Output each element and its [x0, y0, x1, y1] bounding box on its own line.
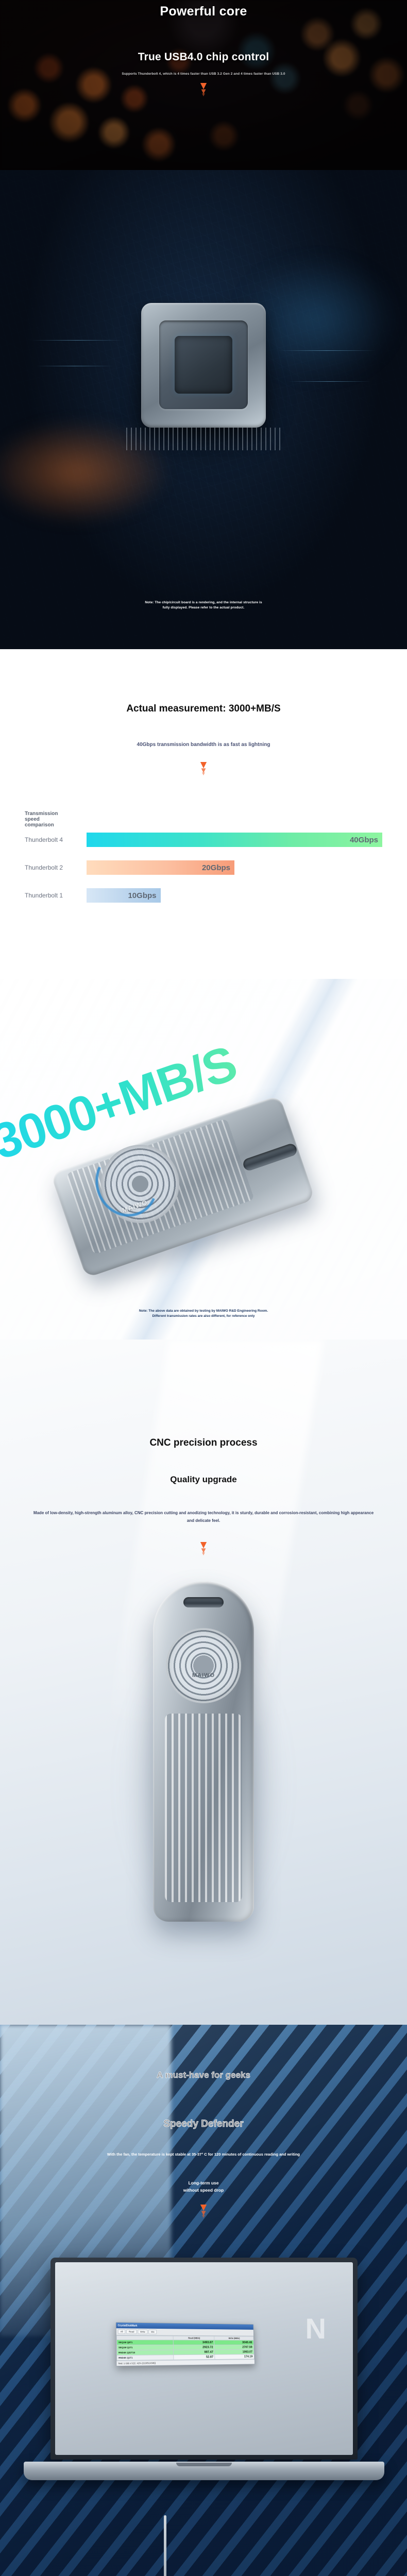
geek-subheading: Speedy Defender: [0, 2119, 407, 2130]
bar-fill: 20Gbps: [87, 860, 234, 875]
product-ribs: [165, 1714, 242, 1902]
benchmark-window[interactable]: CrystalDiskMark All Read Write Mix Read …: [116, 2322, 255, 2366]
measurement-heading: Actual measurement: 3000+MB/S: [0, 703, 407, 715]
chart-bar-row: Thunderbolt 2 20Gbps: [25, 860, 382, 875]
tab-mix[interactable]: Mix: [148, 2330, 157, 2334]
laptop: N CrystalDiskMark All Read Write Mix: [24, 2258, 384, 2515]
board-note-line1: Note: The chip/circuit board is a render…: [145, 601, 262, 604]
row-write: 3040.46: [214, 2340, 253, 2345]
cnc-description: Made of low-density, high-strength alumi…: [32, 1510, 375, 1525]
row-label: RND4K Q1T1: [117, 2355, 174, 2361]
screen-watermark: N: [306, 2312, 328, 2345]
usb-cable: [164, 2515, 166, 2576]
tab-all[interactable]: All: [118, 2329, 126, 2334]
board-note-line2: fully displayed. Please refer to the act…: [163, 606, 245, 609]
benchmark-tabs[interactable]: All Read Write Mix: [116, 2328, 253, 2336]
chip-core: [175, 336, 232, 394]
product-speed-section: 3000+MB/S MAIWO Note: The above data are…: [0, 979, 407, 1340]
chip-pins: [126, 428, 281, 450]
bar-track: 10Gbps: [87, 888, 382, 903]
row-label: SEQ1M Q1T1: [116, 2345, 173, 2350]
longterm-line1: Long-term use: [188, 2180, 218, 2185]
pcb-trace: [278, 350, 376, 351]
hero-title: Powerful core: [0, 4, 407, 19]
chevron-down-icon: ▼▼▼: [197, 761, 210, 776]
circuit-board-section: Note: The chip/circuit board is a render…: [0, 170, 407, 649]
bar-label: Thunderbolt 2: [25, 864, 87, 871]
geek-section: A must-have for geeks Speedy Defender Wi…: [0, 2025, 407, 2576]
cnc-subheading: Quality upgrade: [0, 1475, 407, 1485]
geek-heading: A must-have for geeks: [0, 2070, 407, 2080]
chart-bar-row: Thunderbolt 1 10Gbps: [25, 888, 382, 903]
laptop-screen: N CrystalDiskMark All Read Write Mix: [55, 2262, 353, 2455]
bar-track: 40Gbps: [87, 833, 382, 847]
benchmark-footer: Test: 1 GiB x 5 [C: 42% (213/511GiB)]: [116, 2359, 255, 2366]
laptop-screen-frame: N CrystalDiskMark All Read Write Mix: [50, 2258, 358, 2460]
row-read: 2923.72: [174, 2345, 215, 2350]
bar-value: 20Gbps: [202, 863, 230, 872]
hero-caption: Supports Thunderbolt 4, which is 4 times…: [0, 72, 407, 76]
product-top-slot: [183, 1597, 224, 1607]
chart-title: Transmission speed comparison: [25, 811, 58, 828]
cnc-section: CNC precision process Quality upgrade Ma…: [0, 1340, 407, 2025]
cnc-brand-logo: MAIWO: [192, 1672, 215, 1679]
benchmark-table: Read (MB/s) Write (MB/s) SEQ1M Q8T1 3493…: [116, 2335, 255, 2361]
hero-section: Powerful core True USB4.0 chip control S…: [0, 0, 407, 170]
geek-temperature-text: With the fan, the temperature is kept st…: [26, 2151, 381, 2158]
bar-value: 40Gbps: [350, 836, 378, 844]
pcb-trace: [31, 340, 124, 341]
longterm-line2: without speed drop: [183, 2188, 224, 2193]
tab-write[interactable]: Write: [138, 2330, 147, 2334]
product-note-line1: Note: The above data are obtained by tes…: [139, 1309, 268, 1313]
row-read: 3493.67: [173, 2340, 214, 2345]
row-read: 52.87: [174, 2354, 215, 2360]
laptop-notch: [176, 2463, 232, 2466]
board-note: Note: The chip/circuit board is a render…: [0, 600, 407, 611]
chevron-down-icon: ▼▼▼: [197, 2204, 210, 2219]
product-note-line2: Different transmission rates are also di…: [152, 1314, 255, 1318]
bar-fill: 40Gbps: [87, 833, 382, 847]
cnc-heading: CNC precision process: [0, 1437, 407, 1449]
table-row: SEQ1M Q8T1 3493.67 3040.46: [116, 2340, 253, 2345]
row-write: 2707.59: [214, 2345, 253, 2349]
product-fan-circle: [166, 1628, 241, 1703]
row-write: 174.19: [215, 2354, 254, 2360]
pcb-trace: [36, 366, 113, 366]
hero-subtitle: True USB4.0 chip control: [0, 51, 407, 63]
pcb-trace: [289, 381, 371, 382]
bar-value: 10Gbps: [128, 891, 156, 900]
chevron-down-icon: ▼▼▼: [197, 1541, 210, 1556]
benchmark-window-title: CrystalDiskMark: [118, 2324, 138, 2327]
measurement-section: Actual measurement: 3000+MB/S 40Gbps tra…: [0, 649, 407, 979]
bar-track: 20Gbps: [87, 860, 382, 875]
measurement-subtitle: 40Gbps transmission bandwidth is as fast…: [0, 742, 407, 748]
chart-bar-row: Thunderbolt 4 40Gbps: [25, 833, 382, 847]
tab-read[interactable]: Read: [126, 2329, 137, 2334]
bar-fill: 10Gbps: [87, 888, 161, 903]
bar-label: Thunderbolt 1: [25, 892, 87, 899]
geek-longterm-text: Long-term use without speed drop: [0, 2179, 407, 2194]
chevron-down-icon: ▼▼▼: [197, 82, 210, 97]
row-label: SEQ1M Q8T1: [116, 2340, 173, 2345]
product-note: Note: The above data are obtained by tes…: [0, 1309, 407, 1319]
bar-label: Thunderbolt 4: [25, 836, 87, 843]
